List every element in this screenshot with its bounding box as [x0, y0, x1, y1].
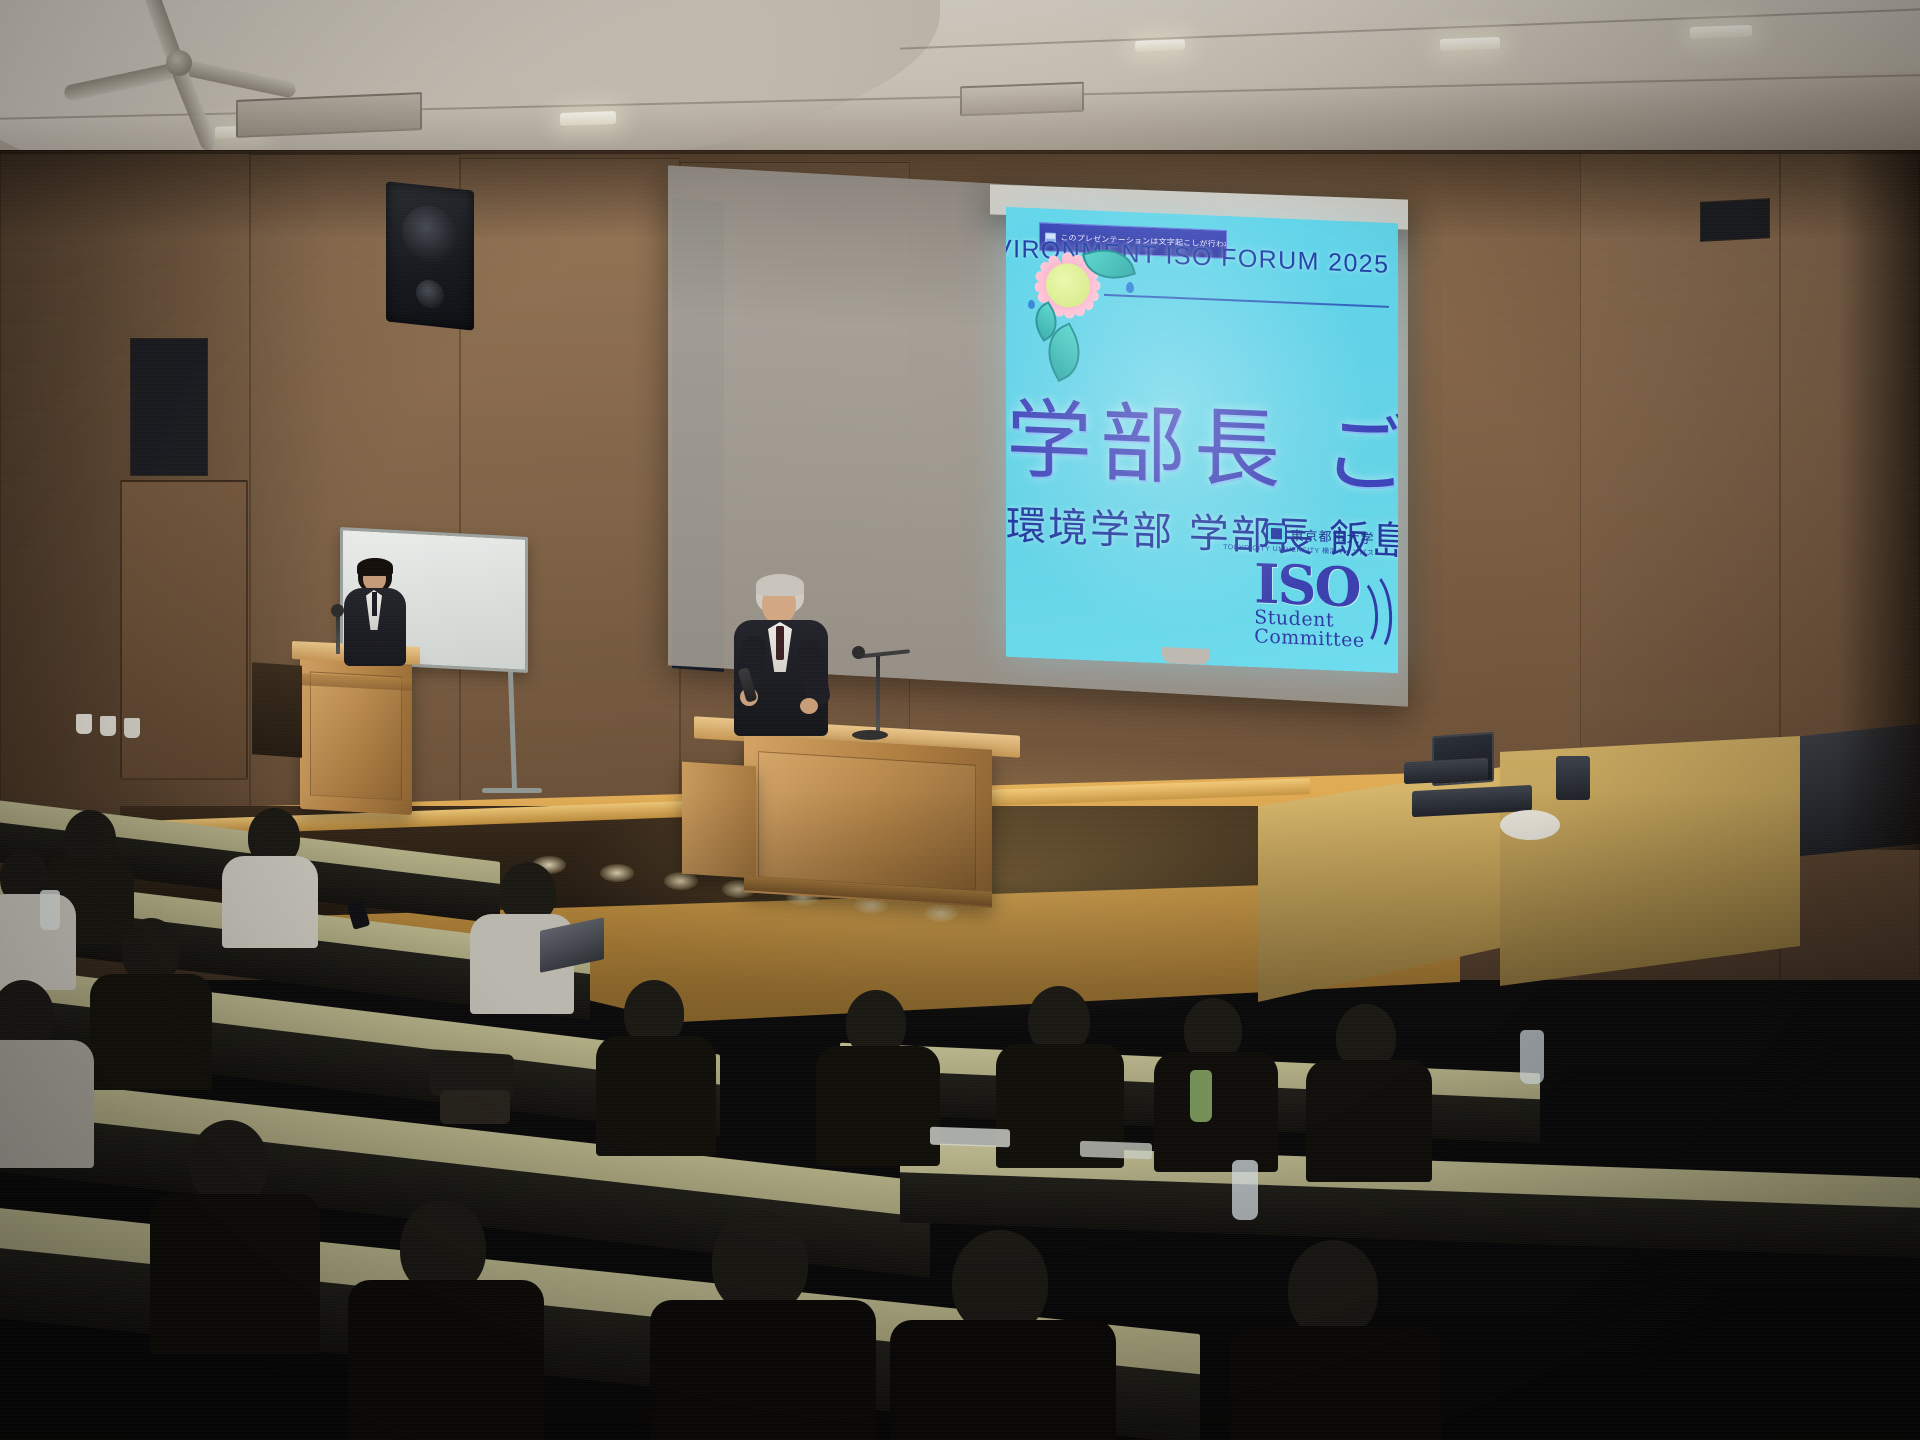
iso-student-committee-logo: ISO Student Committee	[1254, 559, 1384, 659]
paper-cup	[100, 716, 116, 736]
audience-member	[160, 1120, 310, 1340]
slide-main-title: 学部長 ご挨拶	[1006, 369, 1398, 510]
air-vent	[960, 82, 1084, 117]
water-droplet-icon	[1126, 281, 1134, 292]
audience-member	[0, 850, 76, 980]
university-logo-name: 東京都市大学	[1290, 525, 1374, 548]
control-equipment	[1404, 758, 1488, 784]
water-bottle	[1190, 1070, 1212, 1122]
audience-area	[0, 790, 1920, 1440]
paper-cup	[124, 718, 140, 738]
side-table	[252, 662, 302, 757]
ceiling-fan	[60, 30, 300, 120]
audience-member	[96, 918, 206, 1078]
recessed-light	[1440, 37, 1500, 51]
ceiling-speaker-icon	[386, 181, 474, 330]
lecture-hall-photo: このプレゼンテーションは文字起こしが行われています。 ENVIRONMENT I…	[0, 0, 1920, 1440]
water-bottle	[40, 890, 60, 930]
audience-member	[360, 1200, 530, 1440]
audience-member	[1240, 1240, 1430, 1440]
ceiling-seam	[900, 8, 1920, 49]
projection-screen: このプレゼンテーションは文字起こしが行われています。 ENVIRONMENT I…	[1006, 207, 1398, 673]
wall-vent	[1700, 198, 1770, 242]
recessed-light	[1690, 25, 1752, 39]
water-bottle	[1520, 1030, 1544, 1084]
screen-bottom-notch	[1162, 647, 1210, 665]
water-bottle	[1232, 1160, 1258, 1220]
right-wall-shadow	[1838, 150, 1920, 850]
presentation-slide: このプレゼンテーションは文字起こしが行われています。 ENVIRONMENT I…	[1006, 207, 1398, 673]
main-microphone-stand	[876, 656, 880, 738]
paper-handout	[930, 1127, 1010, 1148]
recessed-light	[1135, 39, 1185, 52]
audience-member	[1312, 1004, 1424, 1176]
audience-member	[660, 1210, 860, 1440]
backpack	[440, 1090, 510, 1124]
recessed-light	[560, 111, 616, 126]
main-speaker	[732, 574, 832, 736]
paper-handout	[1080, 1141, 1152, 1160]
speaker-hand	[800, 698, 818, 714]
paper-cup	[76, 714, 92, 734]
audience-member	[820, 990, 932, 1160]
microphone-icon	[331, 604, 344, 617]
side-presenter	[334, 558, 414, 666]
wall-recess	[130, 338, 208, 476]
audience-member	[222, 808, 314, 934]
microphone-icon	[852, 646, 865, 659]
university-mark-icon	[1268, 525, 1285, 543]
audience-member	[900, 1230, 1100, 1440]
audience-member	[0, 980, 96, 1160]
audience-member	[600, 980, 710, 1150]
audience-member	[1160, 998, 1270, 1166]
audience-member	[1000, 986, 1116, 1162]
side-microphone-stand	[336, 612, 340, 654]
mic-base	[852, 730, 888, 740]
water-droplet-icon	[1028, 299, 1035, 308]
